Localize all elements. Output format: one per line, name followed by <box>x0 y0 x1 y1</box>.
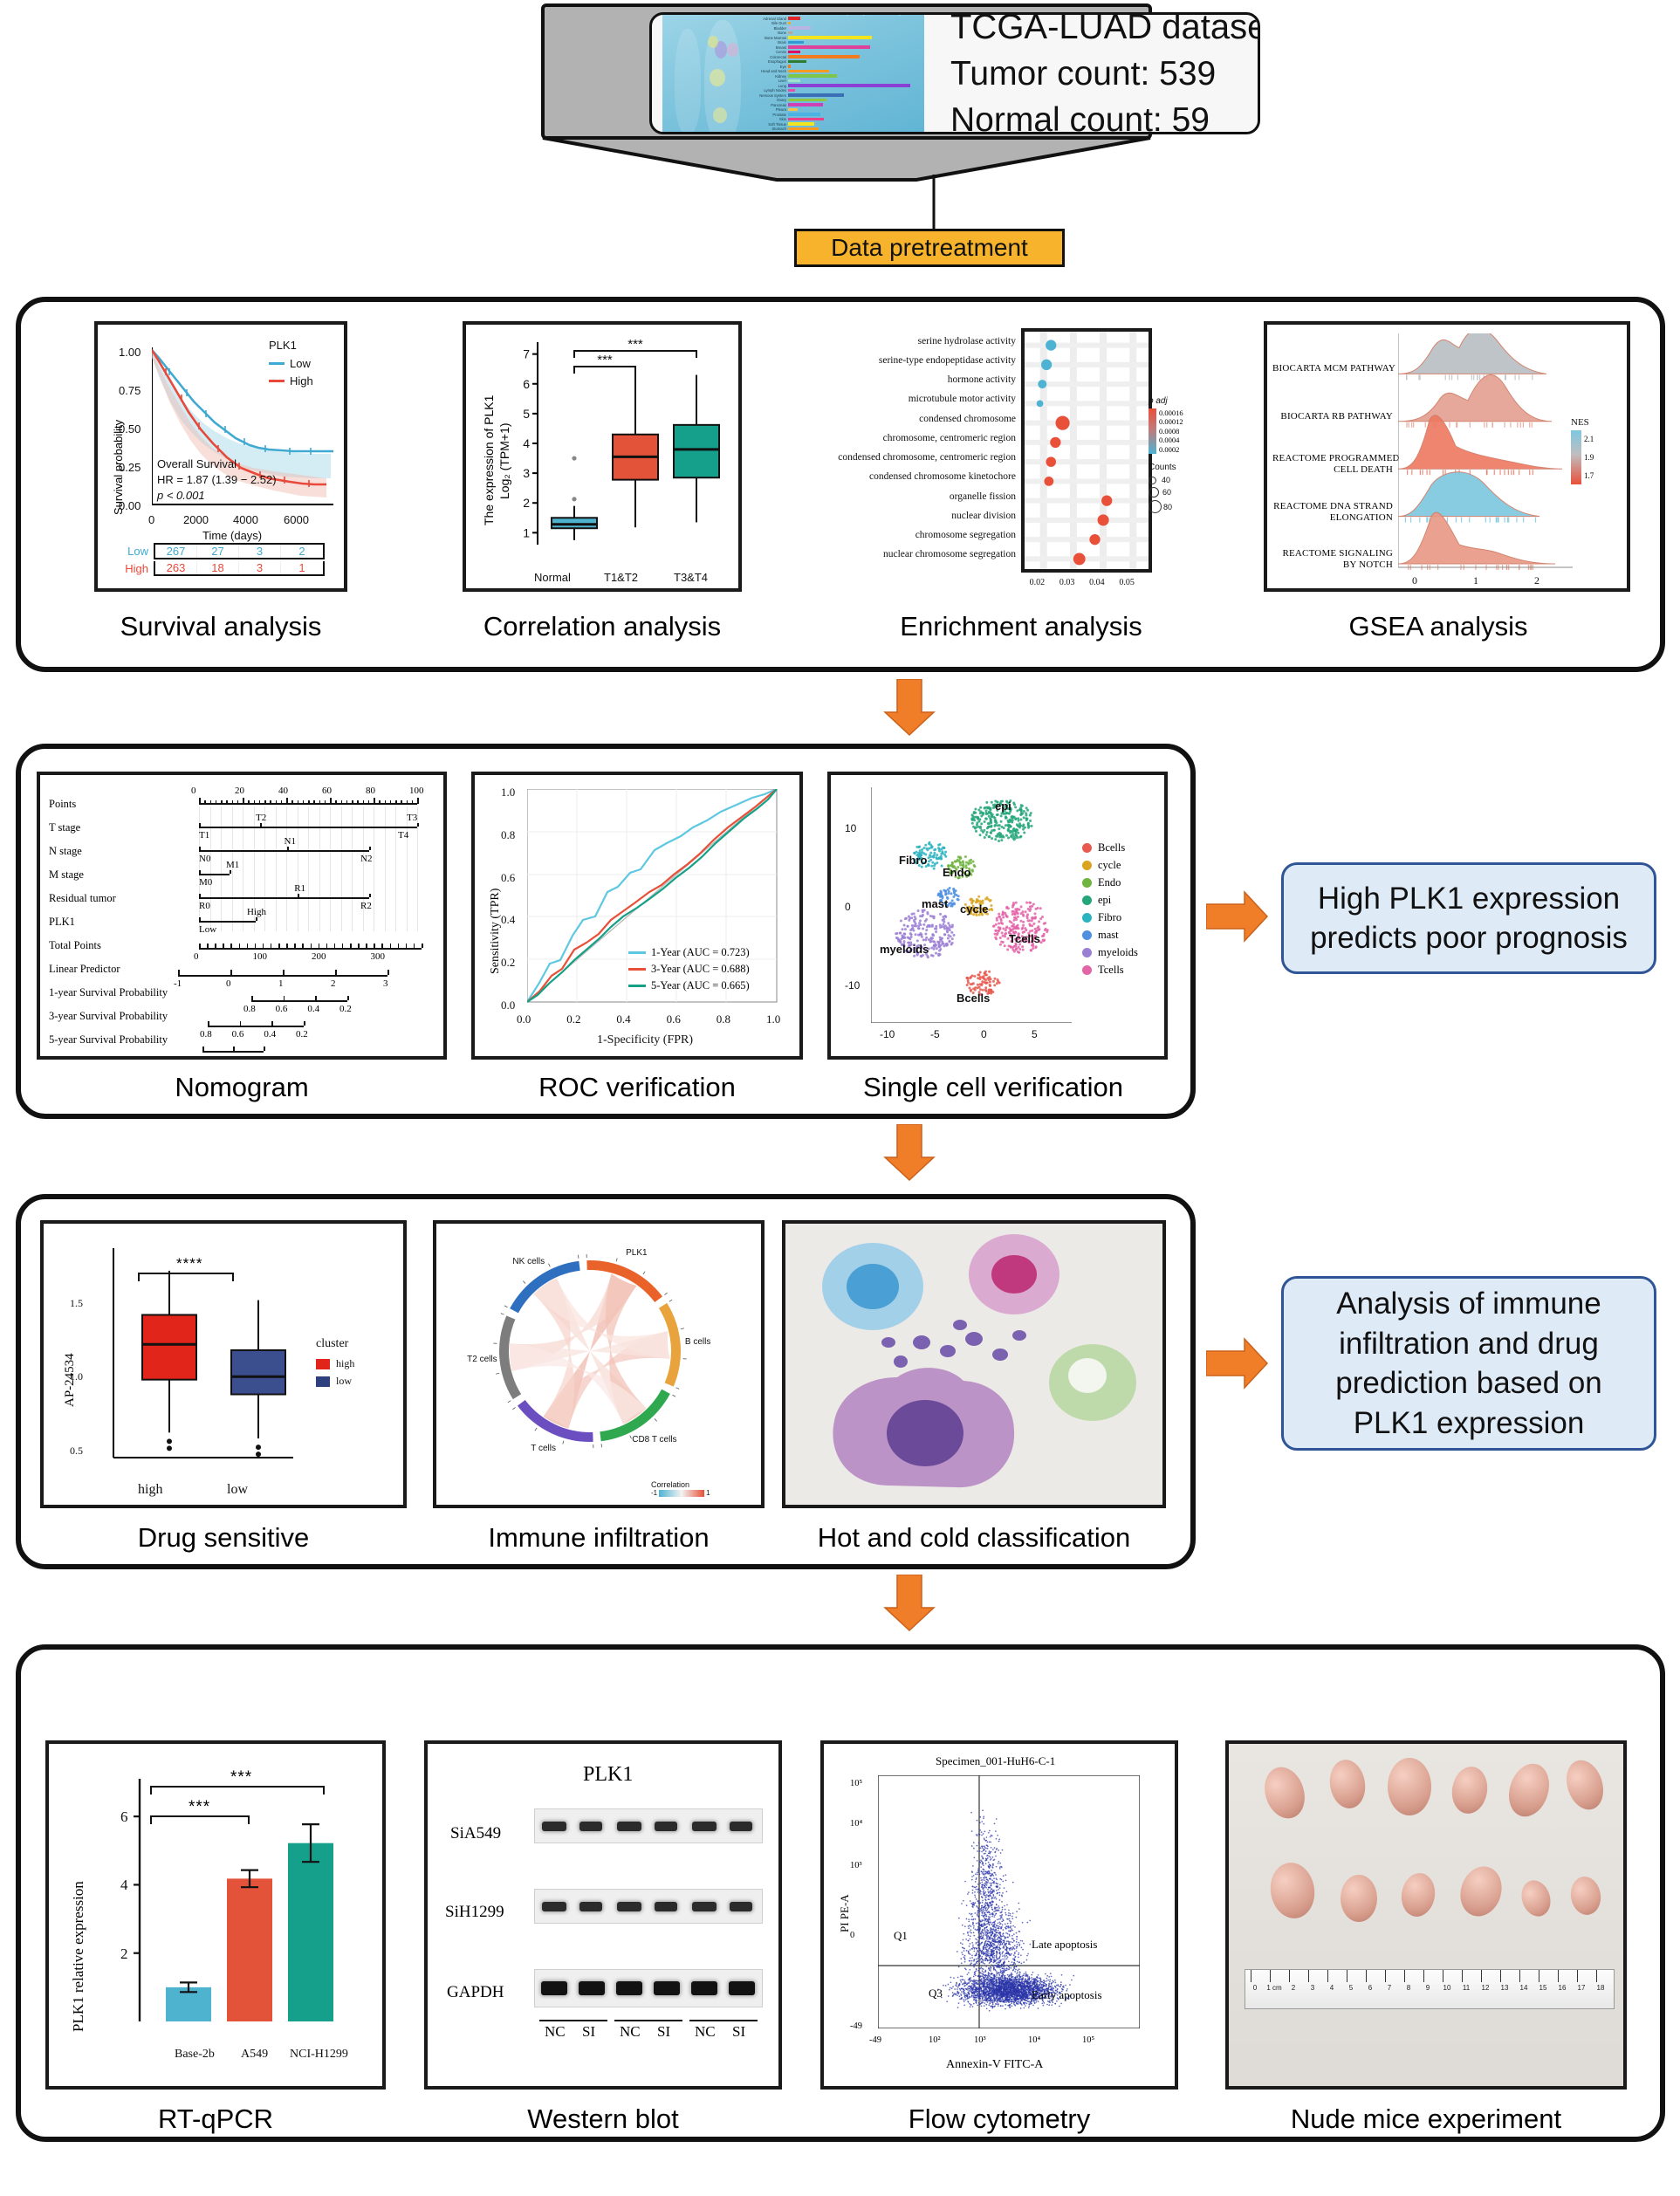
survival-ytick-1: 1.00 <box>119 346 141 359</box>
nomogram-lp-label: 0 <box>226 978 231 989</box>
counts-label-80: 80 <box>1163 503 1172 511</box>
umap-legend-row: Bcells <box>1082 841 1138 854</box>
nomogram-minor-tick <box>199 800 201 804</box>
nomogram-minor-tick <box>226 800 228 804</box>
nomogram-row-label: 3-year Survival Probability <box>49 1010 168 1023</box>
nomogram-minor-tick <box>264 800 266 804</box>
rtqpcr-y-label: PLK1 relative expression <box>70 1881 87 2032</box>
nomogram-minor-tick <box>385 800 387 804</box>
ruler-tick-label: 0 <box>1245 1984 1265 1992</box>
flow-quadrant-q1: Q1 <box>894 1929 908 1943</box>
thumbnail-site-bar <box>788 36 872 39</box>
chord-colorbar <box>659 1490 704 1497</box>
roc-legend-1y: 1-Year (AUC = 0.723) <box>651 946 750 959</box>
nomogram-gridline <box>385 806 386 931</box>
caption-singlecell: Single cell verification <box>810 1072 1176 1103</box>
correlation-y-label-2: Log₂ (TPM+1) <box>497 422 511 499</box>
umap-legend-dot <box>1082 896 1092 905</box>
padj-colorbar <box>1149 408 1156 454</box>
umap-x-tick: 0 <box>981 1028 987 1040</box>
nomogram-lp-label: -1 <box>174 978 182 989</box>
nomogram-tick-label: 0 <box>191 786 196 796</box>
nomogram-minor-tick <box>298 800 299 804</box>
umap-x-tick: -10 <box>880 1028 895 1040</box>
umap-legend-label: mast <box>1098 929 1119 942</box>
flow-title: Specimen_001-HuH6-C-1 <box>936 1754 1055 1768</box>
nomogram-minor-tick <box>335 800 337 804</box>
survival-ytick-4: 0.25 <box>119 461 141 474</box>
western-band <box>541 1981 567 1995</box>
flow-y-tick: 10⁴ <box>850 1819 862 1829</box>
nomogram-minor-tick <box>308 800 310 804</box>
thumbnail-bar-row: Pleura <box>743 107 922 112</box>
drug-legend-low: low <box>336 1375 352 1388</box>
callout-prognosis-text: High PLK1 expression predicts poor progn… <box>1299 879 1638 958</box>
nomogram-minor-tick <box>232 800 234 804</box>
nomogram-surv1-label: 0.8 <box>243 1004 256 1014</box>
nomogram-minor-tick <box>216 800 217 804</box>
nomogram-tick-label: 80 <box>366 786 375 796</box>
nomogram-nstage-n0: N0 <box>199 854 210 864</box>
nomogram-total-tick <box>381 944 383 948</box>
ruler-major-tick <box>1327 1970 1328 1982</box>
padj-tick-2: 0.00012 <box>1159 417 1183 426</box>
enrichment-dots <box>1025 332 1152 573</box>
nomogram-tstage-t2: T2 <box>256 813 266 823</box>
nomogram-gridline <box>298 806 298 931</box>
thumbnail-site-bar <box>788 118 824 121</box>
thumbnail-site-label: Head and Neck <box>743 69 788 73</box>
hot-cold-classification <box>782 1220 1166 1508</box>
survival-annotation-title: Overall Survival <box>157 457 237 470</box>
nomogram-total-tick <box>230 944 232 948</box>
western-row-label-2: SiH1299 <box>445 1903 504 1922</box>
nomogram-minor-tick <box>221 800 223 804</box>
nomogram-axis-line <box>199 827 417 828</box>
nomogram-tick <box>256 917 257 921</box>
enrichment-x-tick: 0.03 <box>1059 578 1075 587</box>
western-band <box>654 1981 680 1995</box>
thumbnail-site-label: Brain <box>743 40 788 45</box>
nomogram-lp-tick <box>283 970 285 975</box>
drug-xtick-low: low <box>227 1482 248 1498</box>
survival-xtick-4: 6000 <box>284 513 309 526</box>
western-band <box>655 1822 677 1831</box>
flow-x-tick: 10³ <box>974 2035 986 2045</box>
nomogram-surv5-tick <box>202 1047 204 1051</box>
umap-inline-label-Bcells: Bcells <box>957 992 990 1005</box>
risk-row-label-low: Low <box>113 545 148 558</box>
nomogram-gridline <box>319 806 320 931</box>
ruler-major-tick <box>1481 1970 1482 1982</box>
nes-colorbar <box>1571 430 1581 484</box>
roc-x-tick: 1.0 <box>766 1012 780 1026</box>
ruler-major-tick <box>1500 1970 1501 1982</box>
umap-inline-label-Endo: Endo <box>943 866 971 879</box>
roc-x-label: 1-Specificity (FPR) <box>597 1033 693 1047</box>
thumbnail-site-label: Eye <box>743 65 788 69</box>
roc-legend: 1-Year (AUC = 0.723) 3-Year (AUC = 0.688… <box>628 946 750 992</box>
nomogram-total-tick <box>223 944 224 948</box>
nomogram-minor-tick <box>363 800 365 804</box>
nomogram-minor-tick <box>374 800 375 804</box>
gsea-pathway-label: REACTOME PROGRAMMED <box>1272 453 1393 463</box>
nomogram-total-tick <box>239 944 241 948</box>
caption-hotcold: Hot and cold classification <box>765 1522 1183 1554</box>
chord-label-4: T2 cells <box>463 1355 501 1364</box>
nomogram-tick <box>369 894 371 897</box>
western-band <box>542 1902 566 1911</box>
thumbnail-bar-row: Bone <box>743 31 922 35</box>
padj-tick-4: 0.0004 <box>1159 436 1183 444</box>
risk-row-label-high: High <box>113 562 148 575</box>
chord-label-0: PLK1 <box>617 1248 655 1258</box>
thumbnail-site-bar <box>788 122 814 126</box>
ruler-tick-label: 17 <box>1572 1984 1591 1992</box>
nomogram-surv5-label: 0.6 <box>195 1054 207 1060</box>
nomogram-total-tick <box>263 944 264 948</box>
nomogram-minor-tick <box>352 800 353 804</box>
nomogram-surv3-label: 0.6 <box>232 1029 244 1040</box>
nomogram-gridline <box>330 806 331 931</box>
thumbnail-site-label: Esophagus <box>743 59 788 64</box>
thumbnail-site-bar <box>788 31 792 35</box>
nomogram-plk1-high: High <box>247 907 266 917</box>
nomogram-total-tick <box>342 944 344 948</box>
western-row-label-1: SiA549 <box>450 1824 501 1843</box>
thumbnail-site-label: Breast <box>743 45 788 50</box>
thumbnail-bar-row: Cervix <box>743 50 922 54</box>
western-lane-group-bar <box>614 2020 682 2021</box>
ruler-major-tick <box>1443 1970 1443 1982</box>
nomogram-tick <box>287 847 289 850</box>
roc-legend-3y: 3-Year (AUC = 0.688) <box>651 963 750 976</box>
gsea-pathway-label: ELONGATION <box>1272 512 1393 523</box>
nomogram-surv1-label: 0.2 <box>339 1004 352 1014</box>
pretreatment-connector <box>908 175 960 236</box>
umap-legend-row: Endo <box>1082 876 1138 889</box>
thumbnail-site-label: Lung <box>743 84 788 88</box>
western-strip-0 <box>534 1808 763 1843</box>
survival-ytick-3: 0.50 <box>119 422 141 436</box>
survival-risk-table: Low 267 27 3 2 High 263 18 3 1 <box>113 543 339 576</box>
thumbnail-bar-row: Pancreas <box>743 103 922 107</box>
correlation-y-label-1: The expression of PLK1 <box>482 395 496 525</box>
thumbnail-site-label: Ovary <box>743 98 788 102</box>
nomogram-total-tick <box>286 944 288 948</box>
western-band <box>617 1822 641 1831</box>
nomogram-total-tick <box>302 944 304 948</box>
nomogram-minor-tick <box>237 800 239 804</box>
umap-legend-dot <box>1082 965 1092 975</box>
western-band <box>579 1822 602 1831</box>
enrichment-term-label: condensed chromosome, centromeric region <box>838 452 1016 463</box>
tumor-count: Tumor count: 539 <box>950 55 1260 93</box>
nomogram-total-tick <box>374 944 375 948</box>
nomogram-lp-tick <box>387 970 389 975</box>
flow-x-label: Annexin-V FITC-A <box>946 2058 1043 2072</box>
thumbnail-site-bar <box>788 89 795 93</box>
nomogram-minor-tick <box>412 800 414 804</box>
ruler-major-tick <box>1251 1970 1251 1982</box>
ruler-major-tick <box>1596 1970 1597 1982</box>
thumbnail-bar-row: Lymph Nodes <box>743 88 922 93</box>
umap-legend-label: Tcells <box>1098 964 1124 977</box>
survival-legend-high: High <box>290 374 313 388</box>
ruler-major-tick <box>1404 1970 1405 1982</box>
umap-legend-label: cycle <box>1098 859 1121 872</box>
nes-tick-1: 2.1 <box>1584 430 1594 449</box>
chord-legend: Correlation -1 1 <box>651 1480 710 1497</box>
nomogram-lp-label: 1 <box>278 978 284 989</box>
thumbnail-bar-row: Adrenal Gland <box>743 17 922 21</box>
nomogram-tick-label: 60 <box>322 786 332 796</box>
roc-y-tick: 1.0 <box>501 786 515 799</box>
gsea-pathway-label: BIOCARTA MCM PATHWAY <box>1272 363 1393 374</box>
caption-correlation: Correlation analysis <box>454 611 751 642</box>
gsea-x-tick: 2 <box>1534 574 1539 587</box>
thumbnail-title: Cases by Major Primary Site <box>818 12 919 16</box>
nes-tick-2: 1.9 <box>1584 449 1594 467</box>
nomogram-total-tick <box>319 944 320 948</box>
caption-nomogram: Nomogram <box>37 1072 447 1103</box>
risk-high-v3: 3 <box>239 561 281 574</box>
thumbnail-bar-row: Bladder <box>743 26 922 31</box>
flow-cytometry-plot: Specimen_001-HuH6-C-1 PI PE-A 10⁵10⁴10³0… <box>820 1740 1178 2090</box>
roc-x-tick: 0.8 <box>717 1012 730 1026</box>
thumbnail-bar-row: Prostate <box>743 113 922 117</box>
dataset-text-block: TCGA-LUAD dataset Tumor count: 539 Norma… <box>924 12 1260 134</box>
ruler-major-tick <box>1519 1970 1520 1982</box>
umap-legend-row: epi <box>1082 894 1138 907</box>
umap-inline-label-myeloids: myeloids <box>880 943 929 956</box>
survival-annotation-p: p < 0.001 <box>157 489 205 502</box>
ruler-tick-label: 6 <box>1361 1984 1380 1992</box>
roc-y-tick: 0.6 <box>501 871 515 885</box>
thumbnail-site-label: Bladder <box>743 26 788 31</box>
nomogram-gridline <box>221 806 222 931</box>
nomogram-gridline <box>210 806 211 931</box>
svg-text:***: *** <box>627 337 643 352</box>
roc-legend-swatch-3y <box>628 968 646 971</box>
roc-y-tick: 0.8 <box>501 828 515 842</box>
western-lane-label: NC <box>620 2023 641 2041</box>
risk-high-v2: 18 <box>197 561 239 574</box>
ruler-major-tick <box>1347 1970 1347 1982</box>
roc-x-tick: 0.0 <box>517 1012 531 1026</box>
nomogram-minor-tick <box>325 800 326 804</box>
thumbnail-bar-row: Stomach <box>743 127 922 131</box>
ruler-major-tick <box>1308 1970 1309 1982</box>
western-lane-label: NC <box>695 2023 716 2041</box>
western-blot: PLK1 SiA549 SiH1299 GAPDH NCSINCSINCSI <box>424 1740 782 2090</box>
flow-quadrant-q3: Q3 <box>929 1987 943 2000</box>
ruler-major-tick <box>1577 1970 1578 1982</box>
nomogram-surv5-label: 0.4 <box>225 1054 237 1060</box>
thumbnail-bar-row: Colorectal <box>743 55 922 59</box>
ruler-major-tick <box>1462 1970 1463 1982</box>
thumbnail-site-label: Adrenal Gland <box>743 17 788 21</box>
nomogram-row-label: PLK1 <box>49 916 75 929</box>
nomogram-lp-axis <box>178 975 387 977</box>
nomogram-lp-tick <box>178 970 180 975</box>
umap-legend-label: myeloids <box>1098 946 1138 959</box>
rtqpcr-bracket-outer <box>150 1786 325 1795</box>
nomogram-surv5-tick <box>233 1047 235 1051</box>
western-lane-label: SI <box>582 2023 595 2041</box>
umap-inline-label-cycle: cycle <box>960 902 989 916</box>
survival-legend: PLK1 Low High <box>269 339 313 388</box>
gsea-pathway-label: REACTOME DNA STRAND <box>1272 501 1393 511</box>
thumbnail-site-label: Skin <box>743 117 788 121</box>
nomogram-total-tick <box>255 944 257 948</box>
enrichment-legend-counts: Counts 40 60 80 <box>1149 463 1176 513</box>
gsea-ridges <box>1398 333 1573 571</box>
western-lane-label: SI <box>657 2023 670 2041</box>
caption-western: Western blot <box>424 2103 782 2135</box>
drug-y-tick: 1.0 <box>70 1370 83 1383</box>
nomogram-surv3-tick <box>304 1021 305 1026</box>
nomogram-total-tick <box>422 944 423 948</box>
nomogram-gridline <box>308 806 309 931</box>
umap-inline-label-Fibro: Fibro <box>899 854 928 867</box>
nomogram-minor-tick <box>291 800 293 804</box>
thumbnail-site-bar <box>788 132 796 134</box>
western-strip-1 <box>534 1889 763 1924</box>
thumbnail-site-bar <box>788 17 800 20</box>
chord-label-1: B cells <box>679 1337 717 1347</box>
western-band <box>655 1902 677 1911</box>
survival-ytick-2: 0.75 <box>119 384 141 397</box>
nomogram-surv5-tick <box>264 1047 265 1051</box>
survival-xtick-3: 4000 <box>233 513 258 526</box>
western-row-label-3: GAPDH <box>447 1983 504 2002</box>
nomogram-total-tick <box>406 944 408 948</box>
nomogram-minor-tick <box>286 800 288 804</box>
nomogram-total-tick <box>247 944 249 948</box>
nomogram-tick-label: 100 <box>409 786 424 796</box>
arrow-to-callout-2 <box>1206 1337 1269 1390</box>
thumbnail-site-label: Soft Tissue <box>743 122 788 127</box>
chord-legend-title: Correlation <box>651 1480 710 1489</box>
thumbnail-site-bar <box>788 26 811 30</box>
nomogram-total-tick <box>414 944 415 948</box>
drug-y-tick: 0.5 <box>70 1445 83 1458</box>
nomogram-surv1-label: 0.6 <box>276 1004 288 1014</box>
nomogram-minor-tick <box>204 800 206 804</box>
nomogram-row-label: Total Points <box>49 939 101 952</box>
enrichment-term-label: nuclear division <box>838 511 1016 521</box>
gsea-legend: NES 2.1 1.9 1.7 <box>1571 417 1594 485</box>
nomogram-minor-tick <box>248 800 250 804</box>
drug-legend-title: cluster <box>316 1337 354 1351</box>
western-lane-label: NC <box>545 2023 566 2041</box>
risk-low-v4: 2 <box>281 545 323 558</box>
thumbnail-site-label: Bone <box>743 31 788 35</box>
nomogram-row-label: N stage <box>49 845 82 858</box>
nomogram-mstage-m1: M1 <box>226 860 239 870</box>
nomogram-tick <box>199 823 201 827</box>
thumbnail-site-bar <box>788 127 819 131</box>
enrichment-term-label: chromosome segregation <box>838 530 1016 540</box>
drug-legend: cluster high low <box>316 1337 354 1388</box>
svg-text:7: 7 <box>523 347 530 361</box>
ruler-tick-label: 8 <box>1399 1984 1418 1992</box>
umap-legend-row: myeloids <box>1082 946 1138 959</box>
western-title: PLK1 <box>583 1763 633 1787</box>
chord-legend-max: 1 <box>706 1489 710 1497</box>
nomogram-surv1-tick <box>315 996 317 1000</box>
umap-y-tick: 10 <box>845 822 856 834</box>
ruler-tick-label: 11 <box>1457 1984 1476 1992</box>
arrow-row3-to-row4 <box>883 1575 936 1632</box>
thumbnail-site-bar <box>788 22 791 25</box>
callout-immune-drug-text: Analysis of immune infiltration and drug… <box>1299 1284 1638 1443</box>
drug-sig-bracket <box>138 1273 234 1281</box>
arrow-to-callout-1 <box>1206 890 1269 943</box>
nomogram-minor-tick <box>341 800 343 804</box>
western-lane-group-bar <box>539 2020 607 2021</box>
nomogram-tick <box>199 847 201 850</box>
nomogram-gridline <box>341 806 342 931</box>
survival-x-axis-label: Time (days) <box>202 529 262 542</box>
enrichment-x-tick: 0.05 <box>1119 578 1135 587</box>
umap-legend-dot <box>1082 930 1092 940</box>
nomogram-minor-tick <box>368 800 370 804</box>
nomogram-total-tick <box>215 944 216 948</box>
nomogram-surv5-label: 0.2 <box>256 1054 268 1060</box>
thumbnail-site-label: Colorectal <box>743 55 788 59</box>
nomogram-lp-tick <box>335 970 337 975</box>
nomogram-tick <box>298 894 299 897</box>
ruler-tick-label: 13 <box>1495 1984 1514 1992</box>
nomogram-minor-tick <box>417 800 419 804</box>
nomogram-tstage-t3: T3 <box>407 813 417 823</box>
arrow-row1-to-row2 <box>883 679 936 737</box>
callout-prognosis: High PLK1 expression predicts poor progn… <box>1281 862 1656 974</box>
counts-circle-80 <box>1149 500 1162 513</box>
caption-drug: Drug sensitive <box>40 1522 407 1554</box>
caption-immune: Immune infiltration <box>424 1522 773 1554</box>
thumbnail-site-bar <box>788 60 806 64</box>
roc-legend-swatch-5y <box>628 985 646 987</box>
umap-legend-label: epi <box>1098 894 1111 907</box>
nomogram-row-label: T stage <box>49 821 80 834</box>
survival-xtick-2: 2000 <box>183 513 209 526</box>
chord-label-5: NK cells <box>510 1257 548 1266</box>
nomogram-row-label: 1-year Survival Probability <box>49 986 168 999</box>
nomogram-gridline <box>243 806 243 931</box>
risk-low-v3: 3 <box>239 545 281 558</box>
enrichment-legend-padj: p adj 0.00016 0.00012 0.0008 0.0004 0.00… <box>1149 396 1183 454</box>
legend-swatch-low <box>269 362 285 365</box>
nude-mice-photo: 01 cm23456789101112131415161718 <box>1225 1740 1627 2090</box>
chord-label-2: CD8 T cells <box>632 1435 670 1445</box>
thumbnail-bar-row: Head and Neck <box>743 69 922 73</box>
thumbnail-site-bar <box>788 84 910 87</box>
data-pretreatment-label: Data pretreatment <box>831 234 1028 262</box>
thumbnail-site-label: Bile Duct <box>743 21 788 25</box>
tumor-specimen <box>1388 1758 1431 1815</box>
thumbnail-bar-row: Kidney <box>743 74 922 79</box>
nomogram-nstage-n1: N1 <box>285 836 296 847</box>
nomogram-surv3-tick <box>271 1021 273 1026</box>
ruler-major-tick <box>1366 1970 1367 1982</box>
padj-title: p adj <box>1149 396 1183 406</box>
western-band <box>692 1902 717 1911</box>
nomogram-axis-line <box>199 850 369 852</box>
gsea-x-tick: 0 <box>1412 574 1417 587</box>
